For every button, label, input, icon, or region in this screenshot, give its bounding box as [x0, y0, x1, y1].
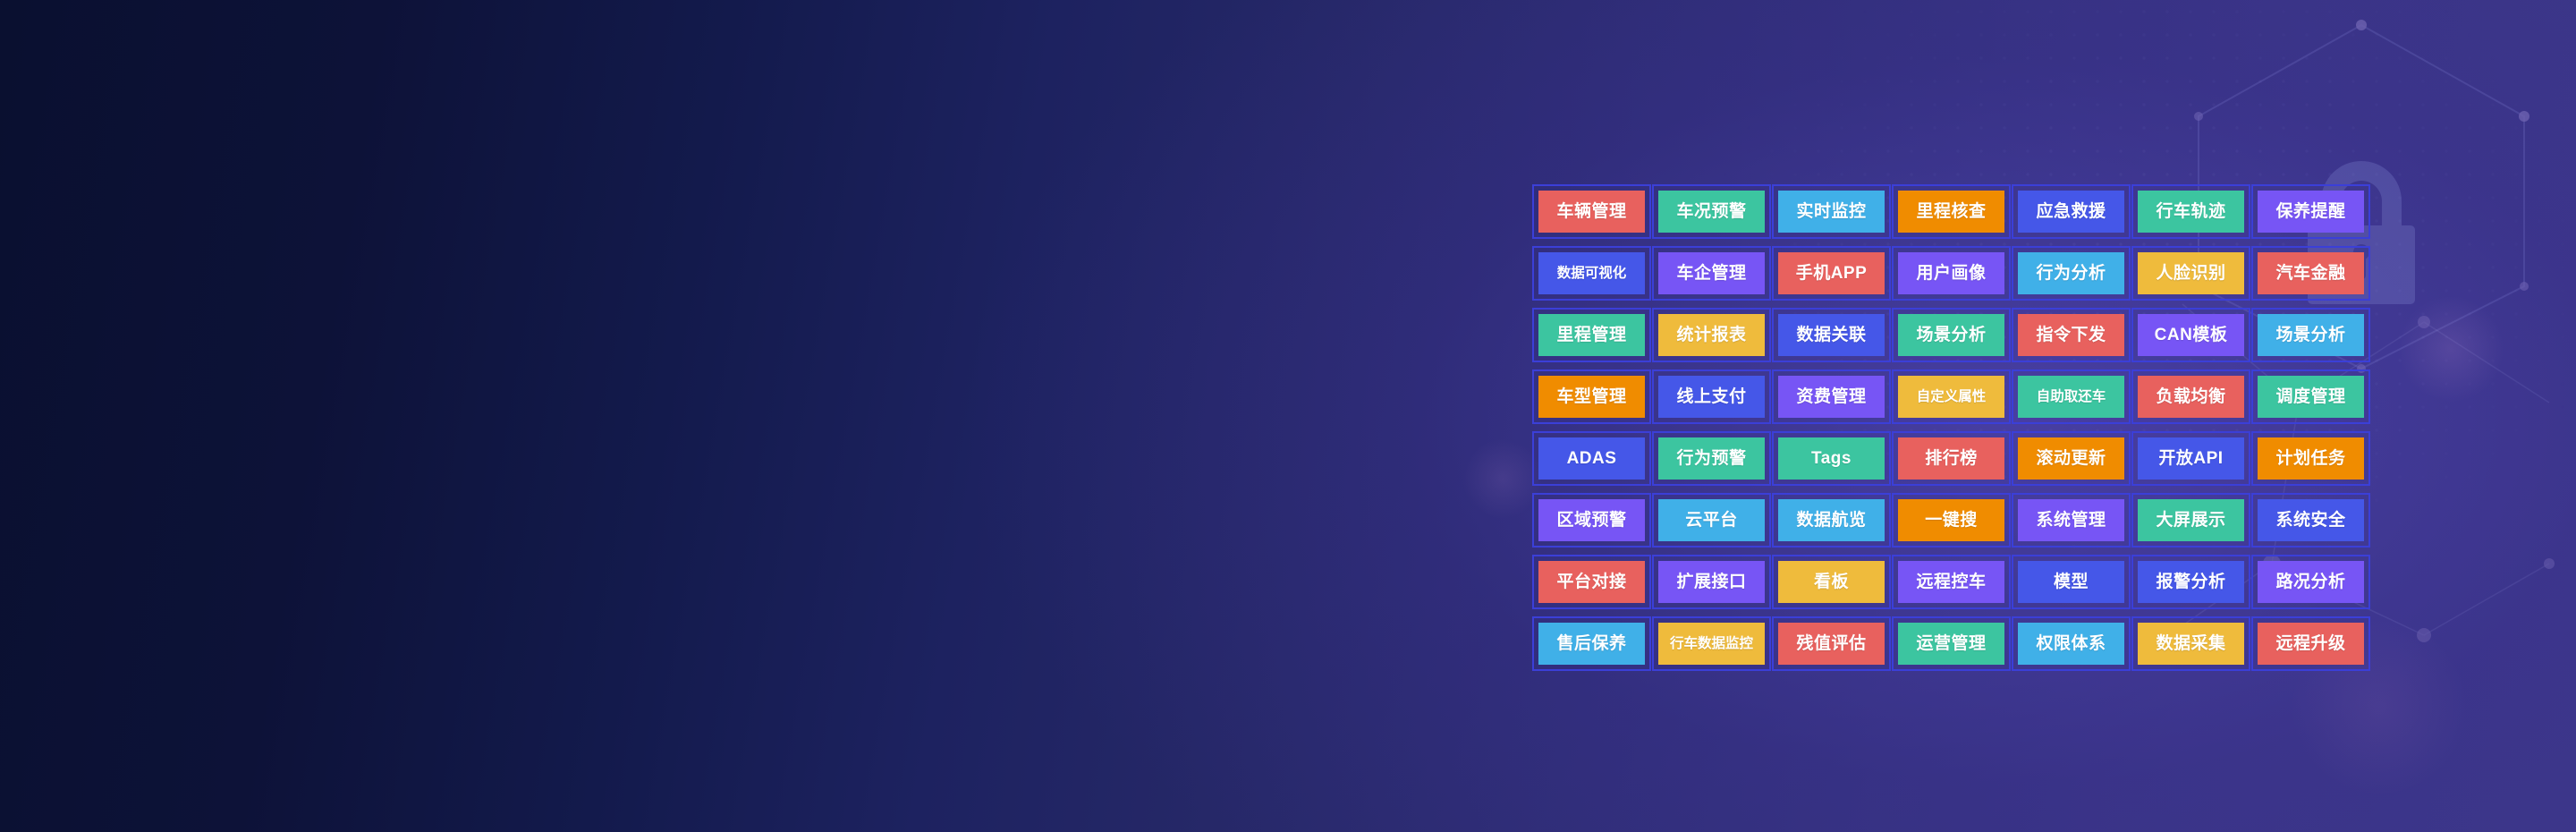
tag-cell[interactable]: 线上支付: [1652, 369, 1771, 424]
tag-label: 售后保养: [1556, 635, 1626, 652]
tag-tile[interactable]: 行车数据监控: [1658, 623, 1765, 665]
tag-cell[interactable]: 负载均衡: [2131, 369, 2250, 424]
tag-label: 实时监控: [1796, 203, 1866, 220]
tag-cell[interactable]: 系统管理: [2012, 493, 2131, 548]
tag-label: 车况预警: [1676, 203, 1746, 220]
tag-cell[interactable]: 售后保养: [1532, 616, 1651, 671]
tag-tile[interactable]: 里程管理: [1538, 314, 1645, 356]
tag-label: 计划任务: [2275, 450, 2345, 467]
tag-tile[interactable]: 应急救援: [2018, 191, 2124, 233]
tag-tile[interactable]: 区域预警: [1538, 499, 1645, 541]
tag-tile[interactable]: 看板: [1778, 561, 1885, 603]
tag-cell[interactable]: 资费管理: [1772, 369, 1891, 424]
tag-cell[interactable]: 数据航览: [1772, 493, 1891, 548]
tag-label: 云平台: [1685, 512, 1738, 529]
tag-tile[interactable]: 一键搜: [1898, 499, 2004, 541]
tag-tile[interactable]: 系统安全: [2258, 499, 2364, 541]
tag-cell[interactable]: 云平台: [1652, 493, 1771, 548]
tag-label: 车型管理: [1556, 388, 1626, 405]
tag-tile[interactable]: 线上支付: [1658, 376, 1765, 418]
tag-label: 开放API: [2158, 450, 2223, 467]
tag-cell[interactable]: 运营管理: [1892, 616, 2011, 671]
tag-cell[interactable]: 车企管理: [1652, 246, 1771, 301]
tag-tile[interactable]: 大屏展示: [2138, 499, 2244, 541]
tag-label: 行为预警: [1676, 450, 1746, 467]
tag-label: 人脸识别: [2156, 265, 2225, 282]
tag-label: 资费管理: [1796, 388, 1866, 405]
tag-tile[interactable]: 模型: [2018, 561, 2124, 603]
tag-label: 数据可视化: [1557, 267, 1627, 281]
tag-cell[interactable]: 里程管理: [1532, 308, 1651, 362]
tag-cell[interactable]: 数据关联: [1772, 308, 1891, 362]
tag-cell[interactable]: 路况分析: [2251, 555, 2370, 609]
tag-tile[interactable]: 手机APP: [1778, 252, 1885, 294]
tag-label: 系统管理: [2036, 512, 2106, 529]
tag-tile[interactable]: 调度管理: [2258, 376, 2364, 418]
tag-label: 大屏展示: [2156, 512, 2225, 529]
page-canvas: 车辆管理车况预警实时监控里程核查应急救援行车轨迹保养提醒数据可视化车企管理手机A…: [0, 0, 2576, 832]
tag-label: 线上支付: [1676, 388, 1746, 405]
tag-cell[interactable]: 调度管理: [2251, 369, 2370, 424]
tag-label: 车企管理: [1676, 265, 1746, 282]
tag-tile[interactable]: 车辆管理: [1538, 191, 1645, 233]
tag-tile[interactable]: 场景分析: [2258, 314, 2364, 356]
tag-tile[interactable]: 售后保养: [1538, 623, 1645, 665]
tag-cell[interactable]: 人脸识别: [2131, 246, 2250, 301]
tag-tile[interactable]: 人脸识别: [2138, 252, 2244, 294]
tag-tile[interactable]: 自定义属性: [1898, 376, 2004, 418]
tag-tile[interactable]: 数据可视化: [1538, 252, 1645, 294]
tag-label: 残值评估: [1796, 635, 1866, 652]
tag-label: 行车数据监控: [1670, 637, 1753, 651]
tag-cell[interactable]: 自定义属性: [1892, 369, 2011, 424]
tag-cell[interactable]: 报警分析: [2131, 555, 2250, 609]
tag-tile[interactable]: 排行榜: [1898, 437, 2004, 480]
tag-cell[interactable]: 车况预警: [1652, 184, 1771, 239]
tag-label: 权限体系: [2036, 635, 2106, 652]
tag-tile[interactable]: 负载均衡: [2138, 376, 2244, 418]
tag-label: 负载均衡: [2156, 388, 2225, 405]
tag-label: 用户画像: [1916, 265, 1986, 282]
tag-cell[interactable]: 指令下发: [2012, 308, 2131, 362]
tag-label: ADAS: [1567, 450, 1617, 467]
tag-label: 排行榜: [1925, 450, 1978, 467]
tag-cell[interactable]: 数据可视化: [1532, 246, 1651, 301]
tag-cell[interactable]: 看板: [1772, 555, 1891, 609]
tag-cell[interactable]: 保养提醒: [2251, 184, 2370, 239]
tag-tile[interactable]: 远程升级: [2258, 623, 2364, 665]
tag-tile[interactable]: 计划任务: [2258, 437, 2364, 480]
tag-tile[interactable]: 开放API: [2138, 437, 2244, 480]
tag-cell[interactable]: 扩展接口: [1652, 555, 1771, 609]
tag-label: 模型: [2054, 573, 2089, 590]
tag-cell[interactable]: 大屏展示: [2131, 493, 2250, 548]
tag-cell[interactable]: 手机APP: [1772, 246, 1891, 301]
tag-cell[interactable]: 数据采集: [2131, 616, 2250, 671]
tag-tile[interactable]: 报警分析: [2138, 561, 2244, 603]
tag-label: 应急救援: [2036, 203, 2106, 220]
tag-label: 自定义属性: [1917, 390, 1987, 404]
tag-label: 里程核查: [1916, 203, 1986, 220]
tag-cell[interactable]: 远程升级: [2251, 616, 2370, 671]
tag-label: 场景分析: [2275, 327, 2345, 344]
tag-tile[interactable]: 数据航览: [1778, 499, 1885, 541]
tag-cell[interactable]: 统计报表: [1652, 308, 1771, 362]
tag-tile[interactable]: 车企管理: [1658, 252, 1765, 294]
tag-label: 数据采集: [2156, 635, 2225, 652]
tag-cell[interactable]: 开放API: [2131, 431, 2250, 486]
tag-cell[interactable]: 计划任务: [2251, 431, 2370, 486]
tag-cell[interactable]: 远程控车: [1892, 555, 2011, 609]
tag-cell[interactable]: Tags: [1772, 431, 1891, 486]
tag-tile[interactable]: 保养提醒: [2258, 191, 2364, 233]
tag-label: 远程控车: [1916, 573, 1986, 590]
tag-label: 路况分析: [2275, 573, 2345, 590]
tag-cell[interactable]: 行车轨迹: [2131, 184, 2250, 239]
tag-cell[interactable]: 场景分析: [1892, 308, 2011, 362]
tag-cell[interactable]: 自助取还车: [2012, 369, 2131, 424]
tag-tile[interactable]: ADAS: [1538, 437, 1645, 480]
tag-label: 运营管理: [1916, 635, 1986, 652]
tag-cell[interactable]: 滚动更新: [2012, 431, 2131, 486]
tag-tile[interactable]: 系统管理: [2018, 499, 2124, 541]
tag-label: 汽车金融: [2275, 265, 2345, 282]
tag-tile[interactable]: 汽车金融: [2258, 252, 2364, 294]
tag-label: 数据关联: [1796, 327, 1866, 344]
tag-label: 指令下发: [2036, 327, 2106, 344]
tag-cell[interactable]: 用户画像: [1892, 246, 2011, 301]
tag-label: 车辆管理: [1556, 203, 1626, 220]
tag-label: 区域预警: [1556, 512, 1626, 529]
tag-tile[interactable]: 远程控车: [1898, 561, 2004, 603]
tag-label: 自助取还车: [2037, 390, 2106, 404]
tag-cell[interactable]: 车型管理: [1532, 369, 1651, 424]
tag-label: 数据航览: [1796, 512, 1866, 529]
tag-tile[interactable]: 指令下发: [2018, 314, 2124, 356]
tag-tile[interactable]: 云平台: [1658, 499, 1765, 541]
glow-orb-left: [1462, 438, 1543, 519]
tag-cell[interactable]: 残值评估: [1772, 616, 1891, 671]
tag-cell[interactable]: 系统安全: [2251, 493, 2370, 548]
tag-label: Tags: [1811, 450, 1851, 467]
tag-label: 保养提醒: [2275, 203, 2345, 220]
tag-label: 报警分析: [2156, 573, 2225, 590]
tag-label: 行为分析: [2036, 265, 2106, 282]
tag-tile[interactable]: 平台对接: [1538, 561, 1645, 603]
tag-label: 统计报表: [1676, 327, 1746, 344]
tag-tile[interactable]: 里程核查: [1898, 191, 2004, 233]
tag-label: 扩展接口: [1676, 573, 1746, 590]
tag-cell[interactable]: 实时监控: [1772, 184, 1891, 239]
tag-tile[interactable]: 行车轨迹: [2138, 191, 2244, 233]
tag-cell[interactable]: 应急救援: [2012, 184, 2131, 239]
tag-tile[interactable]: 行为预警: [1658, 437, 1765, 480]
tag-tile[interactable]: 场景分析: [1898, 314, 2004, 356]
tag-label: 场景分析: [1916, 327, 1986, 344]
tag-cell[interactable]: 平台对接: [1532, 555, 1651, 609]
tag-label: 系统安全: [2275, 512, 2345, 529]
tag-tile[interactable]: Tags: [1778, 437, 1885, 480]
tag-label: 一键搜: [1925, 512, 1978, 529]
feature-tag-grid: 车辆管理车况预警实时监控里程核查应急救援行车轨迹保养提醒数据可视化车企管理手机A…: [1532, 184, 2370, 671]
tag-cell[interactable]: CAN模板: [2131, 308, 2250, 362]
tag-tile[interactable]: 路况分析: [2258, 561, 2364, 603]
tag-label: 调度管理: [2275, 388, 2345, 405]
tag-label: 平台对接: [1556, 573, 1626, 590]
tag-cell[interactable]: 行为分析: [2012, 246, 2131, 301]
tag-cell[interactable]: 一键搜: [1892, 493, 2011, 548]
tag-tile[interactable]: 资费管理: [1778, 376, 1885, 418]
tag-tile[interactable]: 用户画像: [1898, 252, 2004, 294]
tag-tile[interactable]: 行为分析: [2018, 252, 2124, 294]
tag-tile[interactable]: 车型管理: [1538, 376, 1645, 418]
tag-tile[interactable]: 数据采集: [2138, 623, 2244, 665]
tag-cell[interactable]: 行车数据监控: [1652, 616, 1771, 671]
tag-cell[interactable]: 汽车金融: [2251, 246, 2370, 301]
tag-label: 行车轨迹: [2156, 203, 2225, 220]
tag-tile[interactable]: CAN模板: [2138, 314, 2244, 356]
tag-cell[interactable]: 行为预警: [1652, 431, 1771, 486]
tag-tile[interactable]: 残值评估: [1778, 623, 1885, 665]
tag-label: 里程管理: [1556, 327, 1626, 344]
tag-cell[interactable]: 区域预警: [1532, 493, 1651, 548]
tag-cell[interactable]: 权限体系: [2012, 616, 2131, 671]
tag-tile[interactable]: 数据关联: [1778, 314, 1885, 356]
tag-cell[interactable]: 模型: [2012, 555, 2131, 609]
tag-tile[interactable]: 车况预警: [1658, 191, 1765, 233]
glow-orb-right: [2397, 295, 2504, 403]
tag-label: 滚动更新: [2036, 450, 2106, 467]
tag-tile[interactable]: 权限体系: [2018, 623, 2124, 665]
tag-cell[interactable]: 车辆管理: [1532, 184, 1651, 239]
tag-tile[interactable]: 实时监控: [1778, 191, 1885, 233]
tag-tile[interactable]: 扩展接口: [1658, 561, 1765, 603]
tag-cell[interactable]: ADAS: [1532, 431, 1651, 486]
tag-tile[interactable]: 统计报表: [1658, 314, 1765, 356]
tag-cell[interactable]: 场景分析: [2251, 308, 2370, 362]
tag-label: 手机APP: [1796, 265, 1868, 282]
tag-tile[interactable]: 自助取还车: [2018, 376, 2124, 418]
tag-tile[interactable]: 运营管理: [1898, 623, 2004, 665]
tag-label: 远程升级: [2275, 635, 2345, 652]
tag-tile[interactable]: 滚动更新: [2018, 437, 2124, 480]
tag-label: 看板: [1814, 573, 1849, 590]
tag-cell[interactable]: 里程核查: [1892, 184, 2011, 239]
tag-cell[interactable]: 排行榜: [1892, 431, 2011, 486]
tag-label: CAN模板: [2155, 327, 2228, 344]
